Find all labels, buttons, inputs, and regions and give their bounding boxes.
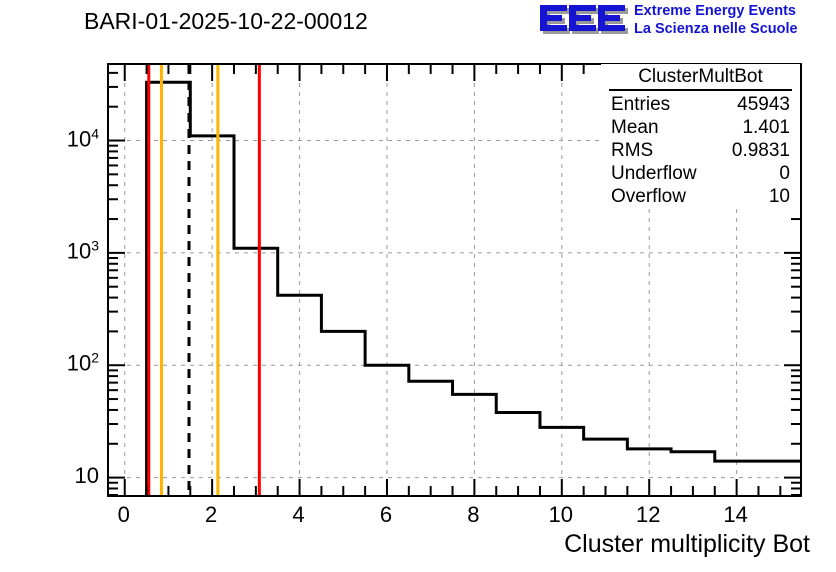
eee-logo-text: Extreme Energy Events La Scienza nelle S…	[634, 3, 798, 38]
eee-logo-line2: La Scienza nelle Scuole	[634, 21, 798, 39]
stats-row: RMS0.9831	[601, 139, 800, 162]
y-tick-label-10e3: 103	[35, 237, 99, 264]
stats-key: RMS	[611, 139, 653, 162]
stats-row: Overflow10	[601, 185, 800, 208]
stats-value: 0.9831	[732, 139, 790, 162]
stats-key: Entries	[611, 93, 670, 116]
x-tick-label-6: 6	[380, 502, 392, 528]
stats-value: 1.401	[742, 116, 790, 139]
stats-row: Underflow0	[601, 162, 800, 185]
x-tick-label-0: 0	[118, 502, 130, 528]
marker-lines	[149, 65, 260, 495]
stats-key: Mean	[611, 116, 659, 139]
y-tick-label-10e4: 104	[35, 125, 99, 152]
stats-row: Mean1.401	[601, 116, 800, 139]
eee-logo: Extreme Energy Events La Scienza nelle S…	[538, 2, 834, 42]
stats-value: 10	[769, 185, 790, 208]
x-tick-label-14: 14	[723, 502, 747, 528]
stats-row: Entries45943	[601, 93, 800, 116]
x-tick-label-8: 8	[467, 502, 479, 528]
stats-value: 45943	[737, 93, 790, 116]
stats-title: ClusterMultBot	[609, 64, 792, 91]
x-axis-title: Cluster multiplicity Bot	[564, 530, 810, 559]
eee-logo-line1: Extreme Energy Events	[634, 3, 798, 21]
y-tick-label-10: 10	[35, 463, 99, 489]
x-tick-label-12: 12	[636, 502, 660, 528]
eee-logo-mark	[538, 4, 628, 38]
y-tick-label-10e2: 102	[35, 350, 99, 377]
x-tick-label-2: 2	[205, 502, 217, 528]
stats-box: ClusterMultBot Entries45943Mean1.401RMS0…	[601, 64, 800, 209]
stats-key: Overflow	[611, 185, 686, 208]
stats-key: Underflow	[611, 162, 697, 185]
page-title: BARI-01-2025-10-22-00012	[84, 8, 368, 35]
x-tick-label-10: 10	[549, 502, 573, 528]
stats-rows: Entries45943Mean1.401RMS0.9831Underflow0…	[601, 93, 800, 208]
stats-value: 0	[779, 162, 790, 185]
x-tick-label-4: 4	[292, 502, 304, 528]
